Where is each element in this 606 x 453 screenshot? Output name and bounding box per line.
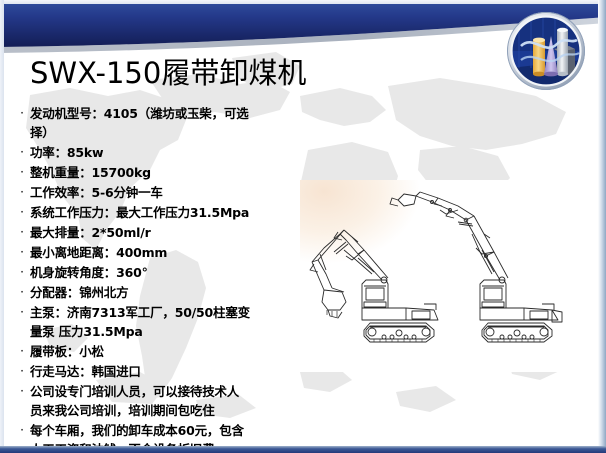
list-item-label: 发动机型号：4105（潍坊或玉柴，可选 择） (30, 104, 310, 142)
list-item-label: 功率：85kw (30, 143, 310, 162)
list-item-label: 工作效率：5-6分钟一车 (30, 183, 310, 202)
list-item-label: 系统工作压力：最大工作压力31.5Mpa (30, 203, 310, 222)
list-item: · 分配器：锦州北方 (14, 283, 310, 302)
slide-border-left (0, 0, 4, 453)
crawler-excavator-image (300, 180, 602, 372)
bullet-marker: · (14, 303, 30, 322)
presentation-slide: SWX-150履带卸煤机 (0, 0, 606, 453)
bullet-marker: · (14, 362, 30, 381)
list-item-line: 主泵：济南7313军工厂，50/50柱塞变 (30, 305, 250, 320)
list-item-label: 主泵：济南7313军工厂，50/50柱塞变 量泵 压力31.5Mpa (30, 303, 310, 341)
bullet-marker: · (14, 263, 30, 282)
bullet-marker: · (14, 342, 30, 361)
bullet-marker: · (14, 243, 30, 262)
list-item: · 整机重量：15700kg (14, 163, 310, 182)
bullet-marker: · (14, 183, 30, 202)
list-item-label: 履带板：小松 (30, 342, 310, 361)
bullet-marker: · (14, 163, 30, 182)
list-item: · 发动机型号：4105（潍坊或玉柴，可选 择） (14, 104, 310, 142)
list-item-label: 机身旋转角度：360° (30, 263, 310, 282)
list-item: · 系统工作压力：最大工作压力31.5Mpa (14, 203, 310, 222)
list-item-line: 每个车厢，我们的卸车成本60元，包含 (30, 423, 244, 438)
list-item-line: 公司设专门培训人员，可以接待技术人 (30, 384, 239, 399)
list-item: · 履带板：小松 (14, 342, 310, 361)
list-item: · 主泵：济南7313军工厂，50/50柱塞变 量泵 压力31.5Mpa (14, 303, 310, 341)
bullet-marker: · (14, 143, 30, 162)
list-item-label: 分配器：锦州北方 (30, 283, 310, 302)
list-item: · 行走马达：韩国进口 (14, 362, 310, 381)
bullet-marker: · (14, 223, 30, 242)
specification-bullet-list: · 发动机型号：4105（潍坊或玉柴，可选 择） · 功率：85kw · 整机重… (14, 104, 310, 453)
list-item-label: 行走马达：韩国进口 (30, 362, 310, 381)
slide-border-top (0, 0, 606, 4)
list-item-line: 发动机型号：4105（潍坊或玉柴，可选 (30, 106, 249, 121)
page-title: SWX-150履带卸煤机 (30, 55, 306, 91)
list-item-label: 公司设专门培训人员，可以接待技术人 员来我公司培训，培训期间包吃住 (30, 382, 310, 420)
list-item: · 功率：85kw (14, 143, 310, 162)
list-item-label: 最大排量：2*50ml/r (30, 223, 310, 242)
bullet-marker: · (14, 283, 30, 302)
list-item: · 最小离地距离：400mm (14, 243, 310, 262)
list-item-line: 员来我公司培训，培训期间包吃住 (30, 403, 215, 418)
list-item: · 公司设专门培训人员，可以接待技术人 员来我公司培训，培训期间包吃住 (14, 382, 310, 420)
bullet-marker: · (14, 203, 30, 222)
bullet-marker: · (14, 382, 30, 401)
slide-border-right (598, 0, 606, 453)
design-medallion-logo (505, 10, 587, 92)
list-item-label: 最小离地距离：400mm (30, 243, 310, 262)
list-item: · 最大排量：2*50ml/r (14, 223, 310, 242)
list-item: · 工作效率：5-6分钟一车 (14, 183, 310, 202)
slide-border-bottom (0, 446, 606, 453)
list-item-line: 量泵 压力31.5Mpa (30, 324, 143, 339)
list-item-line: 择） (30, 125, 55, 140)
bullet-marker: · (14, 421, 30, 440)
list-item-label: 整机重量：15700kg (30, 163, 310, 182)
list-item: · 机身旋转角度：360° (14, 263, 310, 282)
bullet-marker: · (14, 104, 30, 123)
